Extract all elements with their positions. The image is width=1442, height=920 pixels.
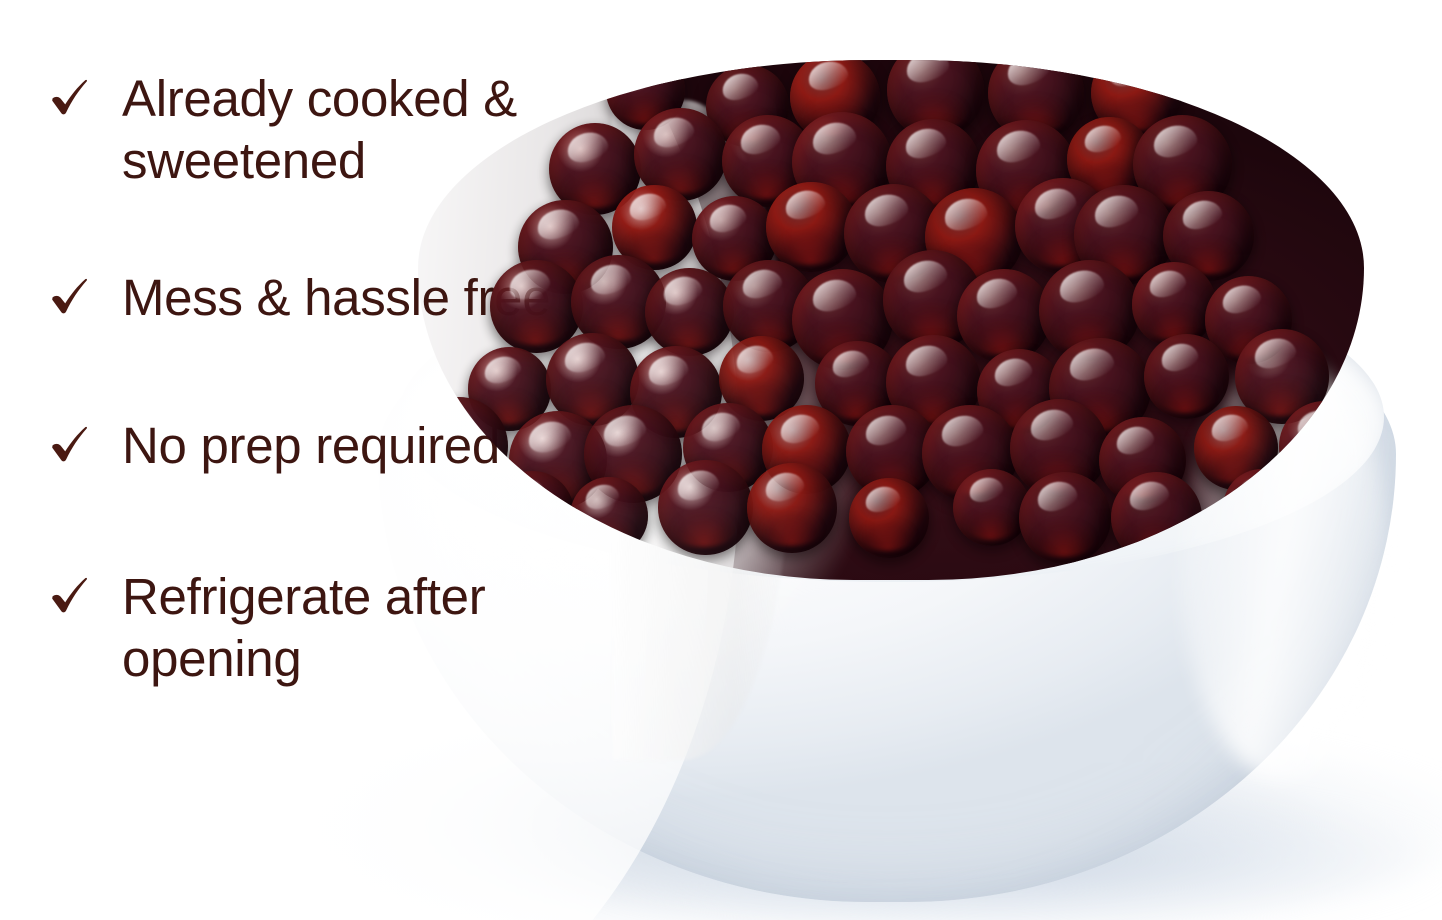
tapioca-pearl <box>1144 334 1229 419</box>
benefit-label: Already cooked & sweetened <box>122 68 517 192</box>
tapioca-pearl <box>1132 262 1217 347</box>
tapioca-pearl <box>490 471 574 555</box>
tapioca-pearl <box>747 463 837 553</box>
tapioca-pearl <box>645 268 734 357</box>
benefit-item-refrigerate: Refrigerate after opening <box>50 566 485 690</box>
tapioca-pearl <box>1111 472 1202 563</box>
check-icon <box>50 275 88 317</box>
check-icon <box>50 574 88 616</box>
benefit-item-already-cooked: Already cooked & sweetened <box>50 68 517 192</box>
tapioca-pearl <box>1019 472 1111 564</box>
benefit-item-mess-free: Mess & hassle free <box>50 267 550 329</box>
check-icon <box>50 76 88 118</box>
benefit-label: Refrigerate after opening <box>122 566 485 690</box>
benefit-label: Mess & hassle free <box>122 267 550 329</box>
tapioca-pearl <box>658 460 753 555</box>
tapioca-pearl <box>570 477 648 555</box>
tapioca-pearl <box>1223 469 1301 547</box>
tapioca-pearl <box>766 182 856 272</box>
check-icon <box>50 423 88 465</box>
tapioca-pearl <box>953 469 1030 546</box>
product-feature-banner: Already cooked & sweetened Mess & hassle… <box>0 0 1442 920</box>
tapioca-pearl <box>957 269 1051 363</box>
tapioca-pearl <box>849 478 929 558</box>
